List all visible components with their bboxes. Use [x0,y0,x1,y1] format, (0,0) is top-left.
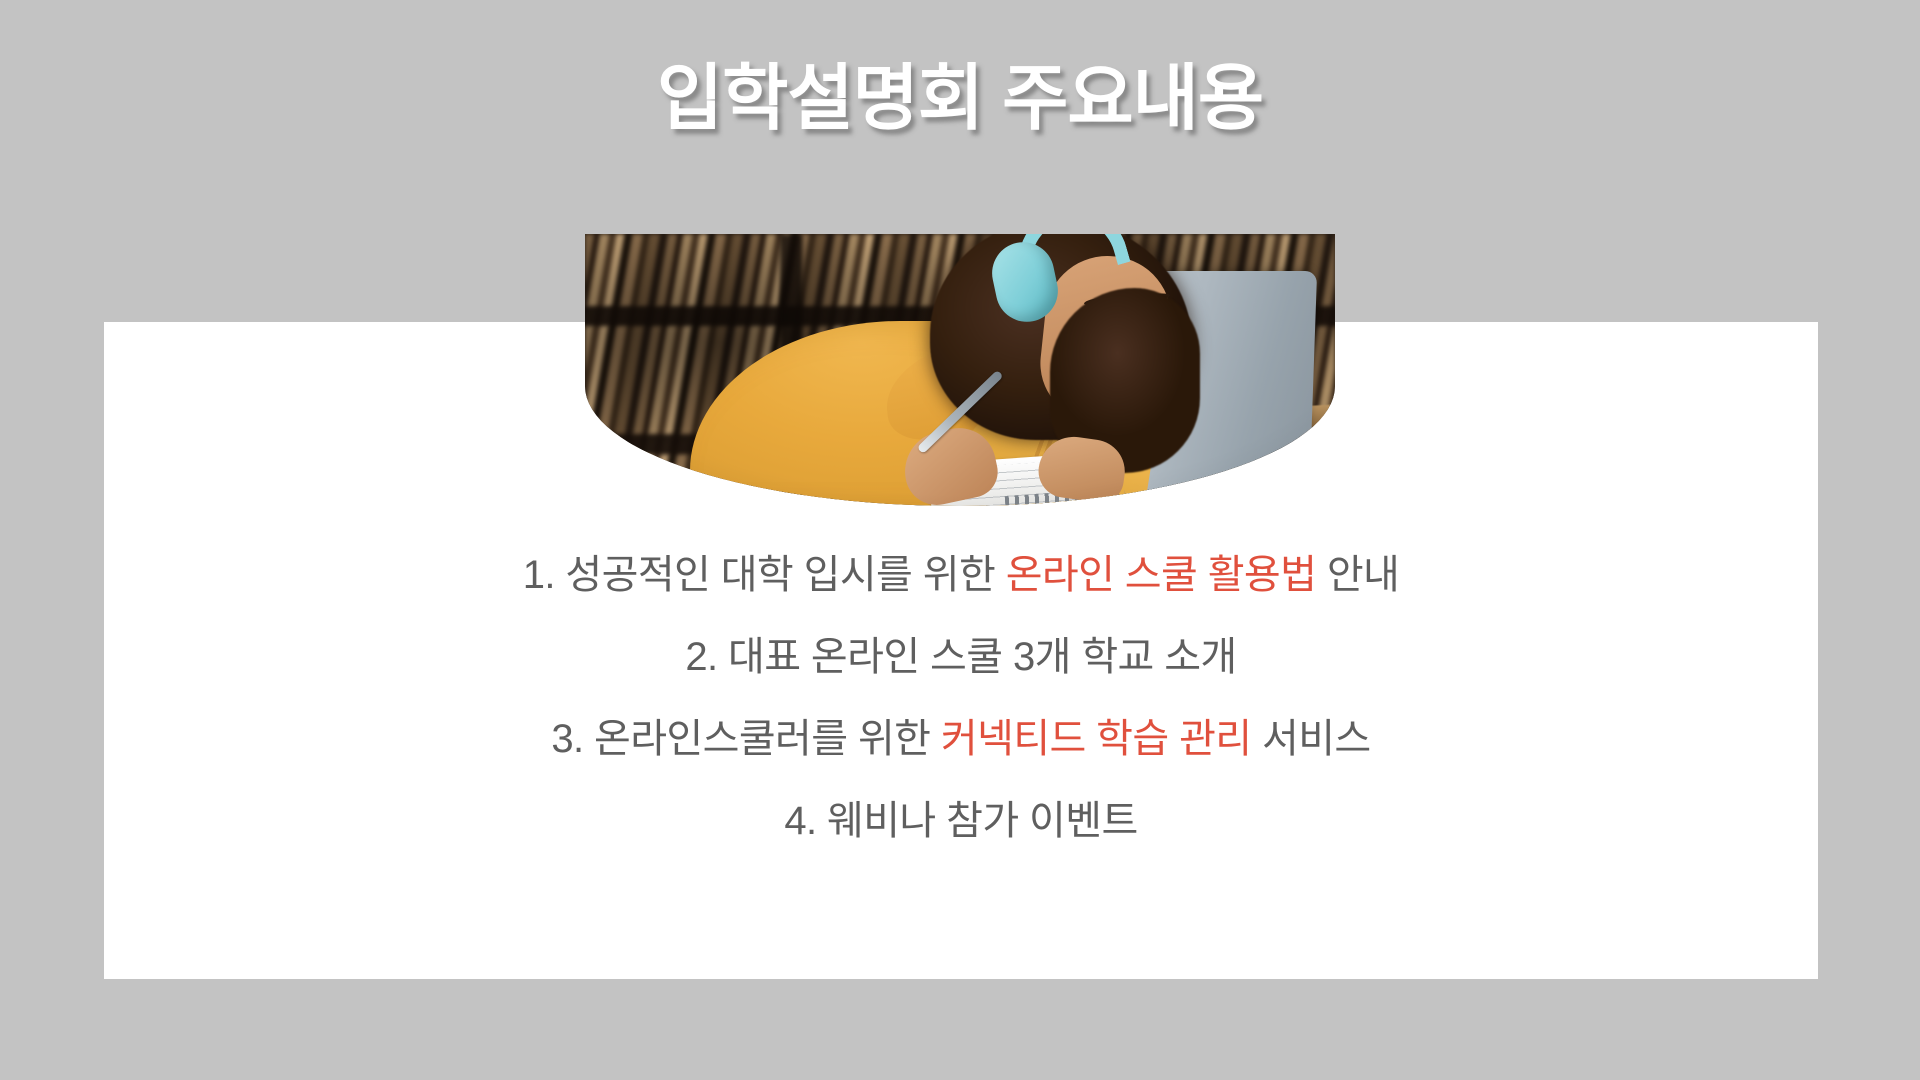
list-item: 2. 대표 온라인 스쿨 3개 학교 소개 [104,637,1818,677]
bullet-text-before: 1. 성공적인 대학 입시를 위한 [523,553,1006,597]
bullet-text-after: 서비스 [1252,717,1371,761]
photo-image [585,234,1335,506]
list-item: 3. 온라인스쿨러를 위한 커넥티드 학습 관리 서비스 [104,719,1818,759]
bullet-text-before: 3. 온라인스쿨러를 위한 [551,717,941,761]
list-item: 1. 성공적인 대학 입시를 위한 온라인 스쿨 활용법 안내 [104,555,1818,595]
bullet-text-highlight: 온라인 스쿨 활용법 [1006,553,1317,597]
list-item: 4. 웨비나 참가 이벤트 [104,801,1818,841]
bullet-text-before: 4. 웨비나 참가 이벤트 [784,799,1137,843]
hero-photo [585,234,1335,506]
bullet-list: 1. 성공적인 대학 입시를 위한 온라인 스쿨 활용법 안내 2. 대표 온라… [104,555,1818,841]
bullet-text-highlight: 커넥티드 학습 관리 [941,717,1252,761]
bullet-text-after: 안내 [1316,553,1399,597]
page-title: 입학설명회 주요내용 [0,58,1920,141]
bullet-text-before: 2. 대표 온라인 스쿨 3개 학교 소개 [685,635,1236,679]
presentation-slide: 입학설명회 주요내용 [0,0,1920,1080]
